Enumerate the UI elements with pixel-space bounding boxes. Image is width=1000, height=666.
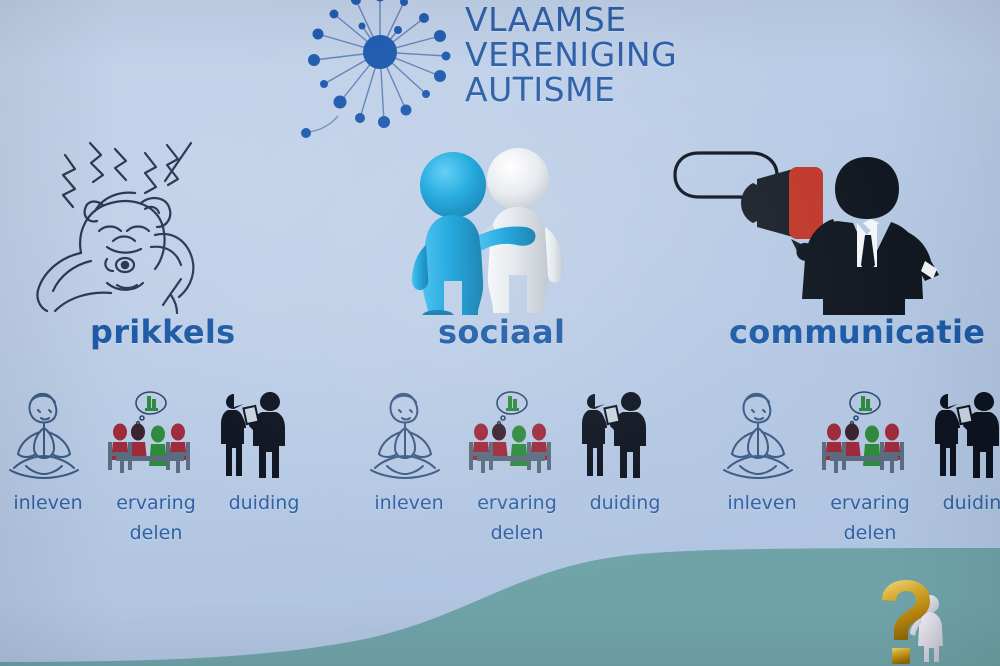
method-duiding: duiding <box>569 382 681 518</box>
method-label-duiding: duiding <box>208 488 320 518</box>
organization-name: VLAAMSE VERENIGING AUTISME <box>465 2 677 107</box>
two-3d-figures-icon <box>333 135 666 315</box>
method-duiding: duiding <box>208 382 320 518</box>
method-label-duiding: duiding <box>569 488 681 518</box>
method-group-prikkels: inleven <box>0 382 337 562</box>
method-group-sociaal: inleven <box>353 382 698 562</box>
stressed-person-holding-head-icon <box>0 135 328 315</box>
slide-header: VLAAMSE VERENIGING AUTISME <box>300 0 720 135</box>
starburst-network-logo-icon <box>300 0 460 140</box>
two-people-talking-clipboard-icon <box>922 382 1000 482</box>
pillar-prikkels: prikkels <box>0 135 328 380</box>
meditating-person-icon <box>0 382 104 482</box>
method-label-inleven: inleven <box>353 488 465 518</box>
pillar-communicatie: communicatie <box>671 135 1000 380</box>
method-inleven: inleven <box>0 382 104 518</box>
meditating-person-icon <box>353 382 465 482</box>
method-ervaring-delen: ervaring delen <box>461 382 573 548</box>
method-inleven: inleven <box>706 382 818 518</box>
pillar-title-prikkels: prikkels <box>0 313 328 351</box>
pillar-title-communicatie: communicatie <box>671 313 1000 351</box>
two-people-talking-clipboard-icon <box>208 382 320 482</box>
method-label-inleven: inleven <box>0 488 104 518</box>
method-label-inleven: inleven <box>706 488 818 518</box>
org-line-2: VERENIGING <box>465 37 677 72</box>
org-line-1: VLAAMSE <box>465 2 677 37</box>
method-label-duiding: duiding <box>922 488 1000 518</box>
presentation-slide: VLAAMSE VERENIGING AUTISME <box>0 0 1000 666</box>
group-meeting-table-icon <box>814 382 926 482</box>
method-group-communicatie: inleven <box>706 382 1000 562</box>
two-people-talking-clipboard-icon <box>569 382 681 482</box>
method-ervaring-delen: ervaring delen <box>814 382 926 548</box>
method-ervaring-delen: ervaring delen <box>100 382 212 548</box>
pillar-sociaal: sociaal <box>333 135 666 380</box>
meditating-person-icon <box>706 382 818 482</box>
teal-wave-decoration <box>0 536 1000 666</box>
golden-question-mark-icon <box>860 578 970 666</box>
group-meeting-table-icon <box>100 382 212 482</box>
businessman-with-megaphone-icon <box>671 135 1000 315</box>
method-duiding: duiding <box>922 382 1000 518</box>
org-line-3: AUTISME <box>465 72 677 107</box>
method-inleven: inleven <box>353 382 465 518</box>
group-meeting-table-icon <box>461 382 573 482</box>
pillar-title-sociaal: sociaal <box>333 313 666 351</box>
